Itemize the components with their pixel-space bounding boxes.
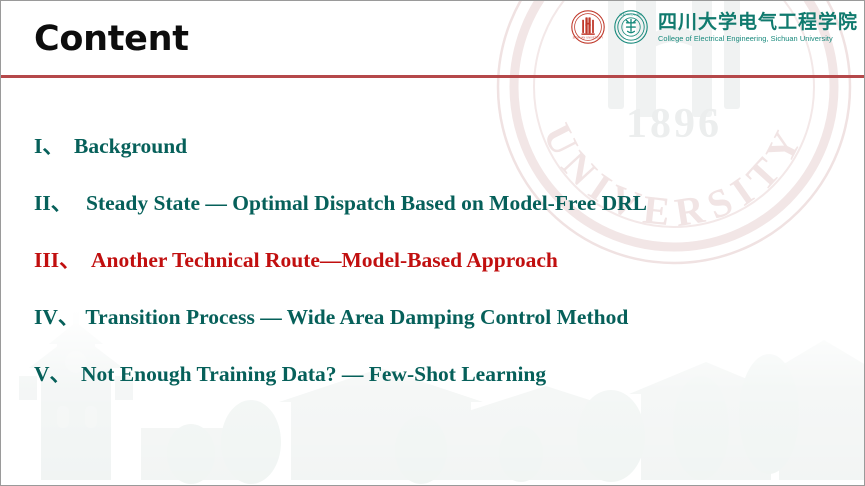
toc-item-4[interactable]: IV、 Transition Process — Wide Area Dampi… — [34, 304, 834, 361]
toc-item-3-number: III、 — [34, 247, 82, 273]
toc-item-3-active[interactable]: III、 Another Technical Route—Model-Based… — [34, 247, 834, 304]
brand-name-english: College of Electrical Engineering, Sichu… — [658, 34, 858, 44]
page-title: Content — [34, 17, 189, 61]
toc-item-1[interactable]: I、 Background — [34, 133, 834, 190]
toc-item-5-label: Not Enough Training Data? — Few-Shot Lea… — [81, 361, 546, 387]
toc-item-3-label: Another Technical Route—Model-Based Appr… — [91, 247, 558, 273]
toc-item-2[interactable]: II、 Steady State — Optimal Dispatch Base… — [34, 190, 834, 247]
toc-item-2-number: II、 — [34, 190, 78, 216]
brand-lockup: SICHUAN UNIVERSITY ELECTRICAL ENG 四川 — [570, 6, 858, 48]
brand-wordmark: 四川大学电气工程学院 College of Electrical Enginee… — [658, 11, 858, 44]
sichuan-university-seal-icon: SICHUAN UNIVERSITY — [570, 9, 606, 45]
toc-item-4-number: IV、 — [34, 304, 79, 330]
electrical-engineering-college-icon: ELECTRICAL ENG — [613, 9, 649, 45]
title-divider-rule — [1, 75, 865, 78]
slide-header: Content SICHUAN UNIVERSITY — [1, 1, 864, 78]
toc-item-5-number: V、 — [34, 361, 71, 387]
toc-item-4-label: Transition Process — Wide Area Damping C… — [85, 304, 628, 330]
toc-item-1-number: I、 — [34, 133, 68, 159]
svg-text:ELECTRICAL ENG: ELECTRICAL ENG — [620, 13, 643, 16]
svg-text:SICHUAN UNIVERSITY: SICHUAN UNIVERSITY — [573, 35, 604, 39]
toc-item-2-label: Steady State — Optimal Dispatch Based on… — [86, 190, 647, 216]
content-outline-list: I、 Background II、 Steady State — Optimal… — [34, 133, 834, 418]
toc-item-5[interactable]: V、 Not Enough Training Data? — Few-Shot … — [34, 361, 834, 418]
brand-name-chinese: 四川大学电气工程学院 — [658, 11, 858, 34]
presentation-slide: SICHUAN UNIVERSITY 1896 — [0, 0, 865, 486]
toc-item-1-label: Background — [74, 133, 187, 159]
